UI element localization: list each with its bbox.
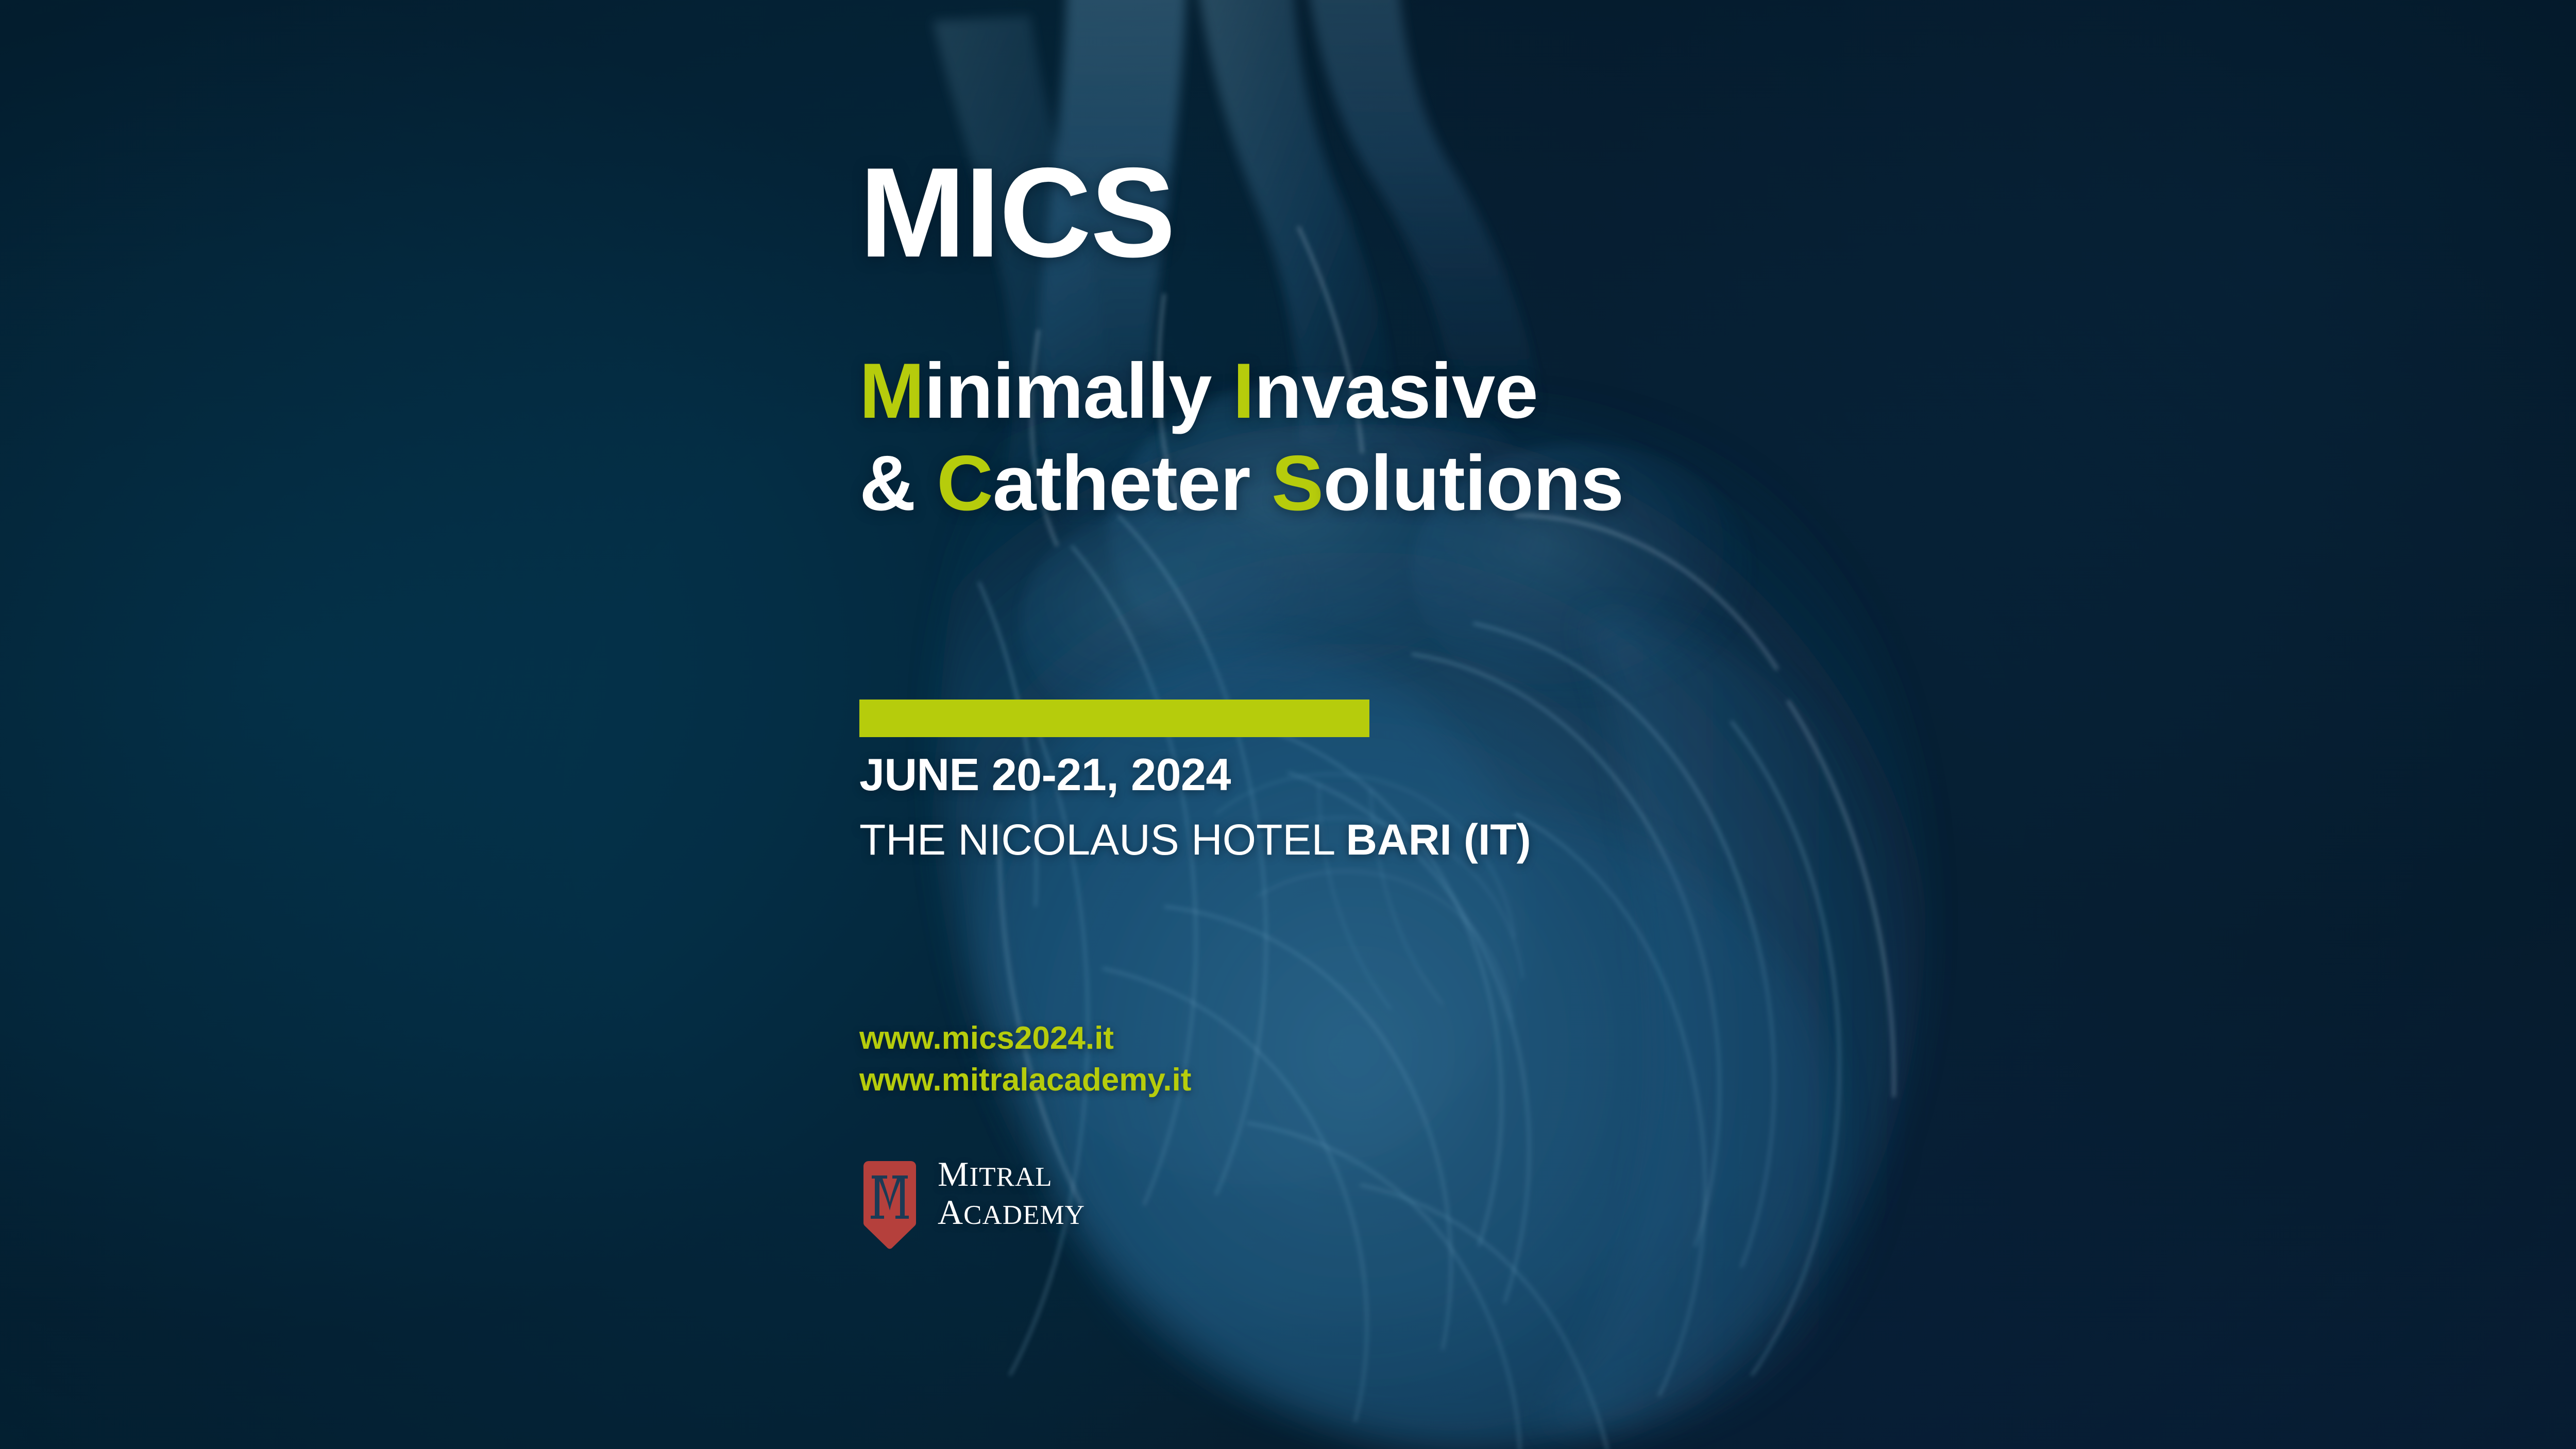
subtitle-accent-s: S: [1272, 439, 1323, 527]
link-mitralacademy[interactable]: www.mitralacademy.it: [859, 1059, 1191, 1101]
logo-line-mitral: MITRAL: [938, 1158, 1085, 1191]
subtitle-text-inimally: inimally: [924, 347, 1233, 435]
mitral-academy-logo: MITRAL ACADEMY: [859, 1158, 1085, 1250]
event-date: JUNE 20-21, 2024: [859, 752, 1231, 797]
subtitle: Minimally Invasive & Catheter Solutions: [859, 345, 1623, 530]
subtitle-text-olutions: olutions: [1323, 439, 1623, 527]
page-title: MICS: [859, 148, 1175, 276]
link-mics2024[interactable]: www.mics2024.it: [859, 1017, 1191, 1059]
subtitle-accent-m: M: [859, 347, 924, 435]
poster-content: MICS Minimally Invasive & Catheter Solut…: [859, 0, 2096, 1449]
subtitle-line-1: Minimally Invasive: [859, 345, 1623, 437]
subtitle-text-atheter: atheter: [993, 439, 1272, 527]
accent-divider-bar: [859, 700, 1369, 737]
subtitle-line-2: & Catheter Solutions: [859, 437, 1623, 530]
subtitle-text-ampersand: &: [859, 439, 937, 527]
logo-line-academy: ACADEMY: [938, 1196, 1085, 1229]
subtitle-text-nvasive: nvasive: [1254, 347, 1538, 435]
website-links: www.mics2024.it www.mitralacademy.it: [859, 1017, 1191, 1101]
venue-city: BARI (IT): [1346, 815, 1531, 864]
subtitle-accent-i: I: [1233, 347, 1254, 435]
event-poster: MICS Minimally Invasive & Catheter Solut…: [0, 0, 2576, 1449]
venue-name: THE NICOLAUS HOTEL: [859, 815, 1346, 864]
logo-wordmark: MITRAL ACADEMY: [938, 1158, 1085, 1229]
subtitle-accent-c: C: [937, 439, 993, 527]
event-venue: THE NICOLAUS HOTEL BARI (IT): [859, 818, 1531, 861]
shield-icon: [859, 1161, 920, 1250]
